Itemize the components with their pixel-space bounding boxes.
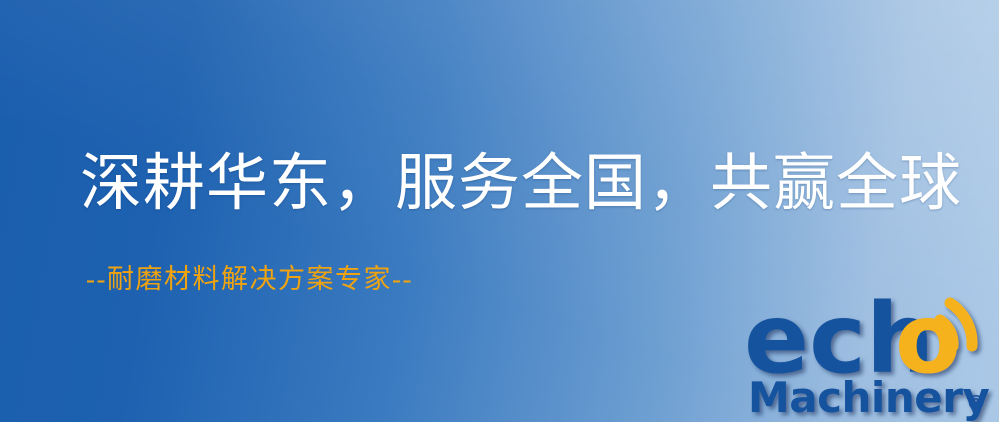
logo-tagline: Machinery	[748, 373, 989, 422]
banner-subtitle: --耐磨材料解决方案专家--	[86, 263, 413, 295]
registered-trademark-icon: ®	[966, 391, 986, 415]
banner-headline: 深耕华东，服务全国，共赢全球	[80, 152, 962, 217]
echo-machinery-logo[interactable]: ech o Machinery ®	[744, 296, 999, 422]
hero-banner: 深耕华东，服务全国，共赢全球 --耐磨材料解决方案专家-- ech o	[0, 0, 999, 422]
